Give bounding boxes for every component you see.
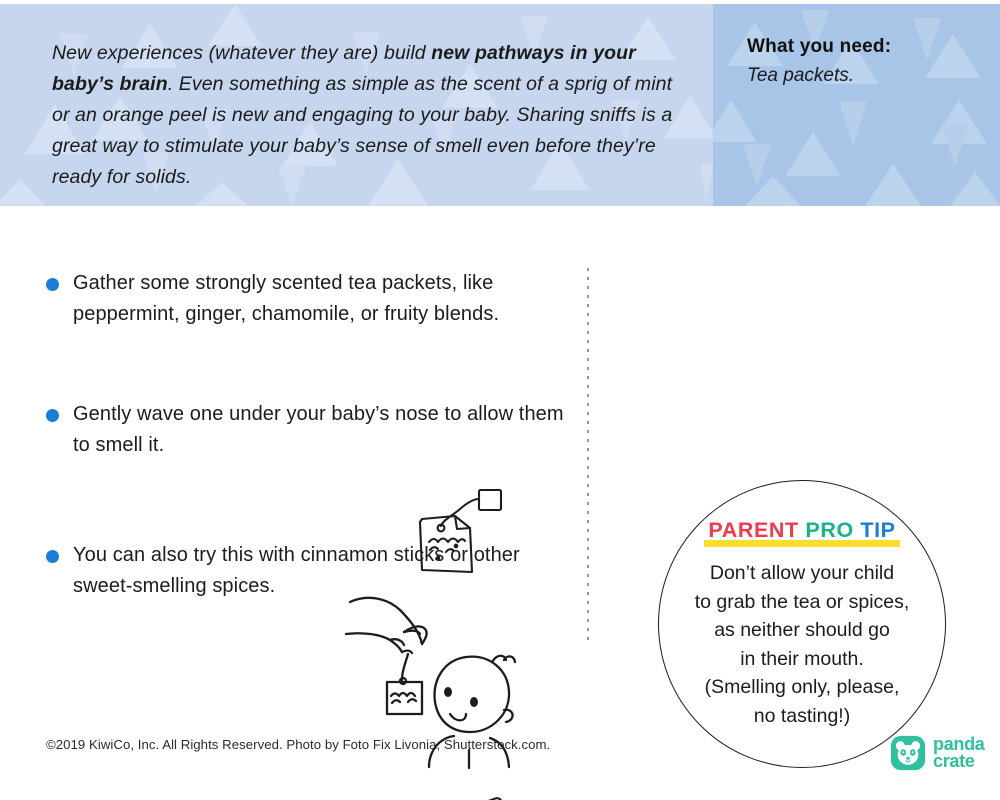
panda-logo-icon: [890, 735, 926, 771]
parent-pro-tip-circle: PARENT PRO TIP Don’t allow your child to…: [658, 480, 946, 768]
step-item: Gather some strongly scented tea packets…: [46, 268, 566, 329]
header-materials-panel: What you need: Tea packets.: [713, 4, 1000, 206]
bullet-dot-icon: [46, 409, 59, 422]
pro-tip-line: as neither should go: [695, 616, 910, 645]
copyright-text: ©2019 KiwiCo, Inc. All Rights Reserved. …: [46, 737, 550, 752]
pro-tip-line: (Smelling only, please,: [695, 673, 910, 702]
materials-list: Tea packets.: [747, 65, 980, 87]
pro-tip-word-pro: PRO: [805, 518, 853, 542]
step-text: Gently wave one under your baby’s nose t…: [73, 399, 566, 460]
pro-tip-body: Don’t allow your child to grab the tea o…: [695, 559, 910, 730]
panda-crate-wordmark: panda crate: [933, 736, 985, 771]
intro-part-1: New experiences (whatever they are) buil…: [52, 42, 431, 64]
step-text: Gather some strongly scented tea packets…: [73, 268, 566, 329]
logo-line-2: crate: [933, 753, 985, 771]
pro-tip-title: PARENT PRO TIP: [708, 518, 895, 543]
header-intro-panel: New experiences (whatever they are) buil…: [0, 4, 713, 206]
pro-tip-word-parent: PARENT: [708, 518, 798, 542]
header-banner: New experiences (whatever they are) buil…: [0, 4, 1000, 206]
vertical-dotted-divider: [587, 268, 589, 646]
bullet-dot-icon: [46, 278, 59, 291]
step-item: Gently wave one under your baby’s nose t…: [46, 399, 566, 460]
intro-paragraph: New experiences (whatever they are) buil…: [0, 4, 713, 193]
pro-tip-line: in their mouth.: [695, 645, 910, 674]
panda-crate-logo: panda crate: [890, 735, 985, 771]
activity-card: New experiences (whatever they are) buil…: [0, 0, 1000, 800]
body-area: Gather some strongly scented tea packets…: [0, 206, 1000, 800]
materials-title: What you need:: [747, 36, 980, 58]
pro-tip-line: no tasting!): [695, 702, 910, 731]
materials-block: What you need: Tea packets.: [713, 4, 1000, 87]
pro-tip-line: to grab the tea or spices,: [695, 588, 910, 617]
tea-bag-illustration: [400, 482, 510, 582]
pro-tip-line: Don’t allow your child: [695, 559, 910, 588]
cinnamon-sticks-illustration: [424, 788, 544, 800]
bullet-dot-icon: [46, 550, 59, 563]
pro-tip-word-tip: TIP: [860, 518, 895, 542]
